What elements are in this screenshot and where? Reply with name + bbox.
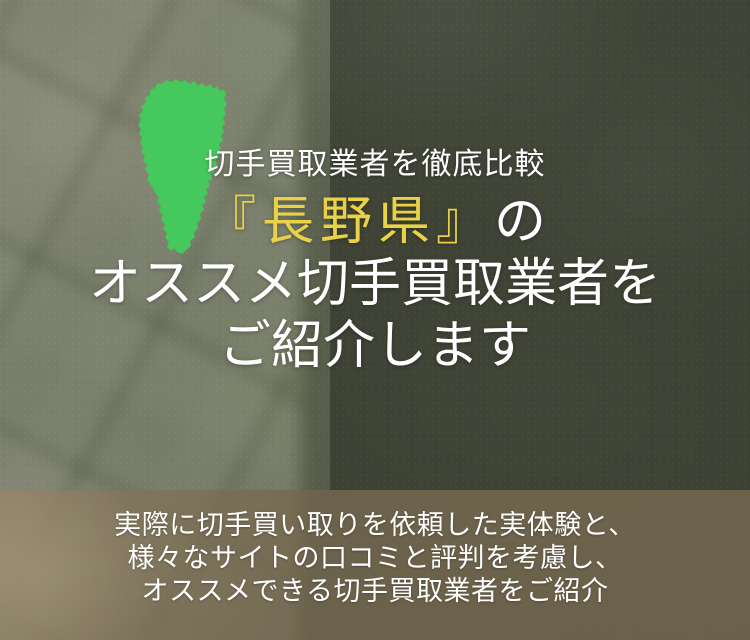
headline-line-2: オススメ切手買取業者を (0, 253, 750, 315)
caption-line-3: オススメできる切手買取業者をご紹介 (0, 575, 750, 608)
hero-copy: 切手買取業者を徹底比較 『長野県』の オススメ切手買取業者を ご紹介します (0, 0, 750, 377)
caption-text: 実際に切手買い取りを依頼した実体験と、 様々なサイトの口コミと評判を考慮し、 オ… (0, 490, 750, 608)
headline-accent-prefecture: 『長野県』 (204, 192, 494, 252)
hero-headline: 『長野県』の オススメ切手買取業者を ご紹介します (0, 191, 750, 377)
headline-line-3: ご紹介します (0, 315, 750, 377)
caption-bar: 実際に切手買い取りを依頼した実体験と、 様々なサイトの口コミと評判を考慮し、 オ… (0, 490, 750, 640)
hero-banner: 切手買取業者を徹底比較 『長野県』の オススメ切手買取業者を ご紹介します 実際… (0, 0, 750, 640)
hero-eyebrow: 切手買取業者を徹底比較 (0, 145, 750, 185)
caption-line-1: 実際に切手買い取りを依頼した実体験と、 (0, 509, 750, 542)
headline-line-1: 『長野県』の (0, 191, 750, 253)
caption-line-2: 様々なサイトの口コミと評判を考慮し、 (0, 542, 750, 575)
headline-line-1-tail: の (494, 192, 546, 252)
